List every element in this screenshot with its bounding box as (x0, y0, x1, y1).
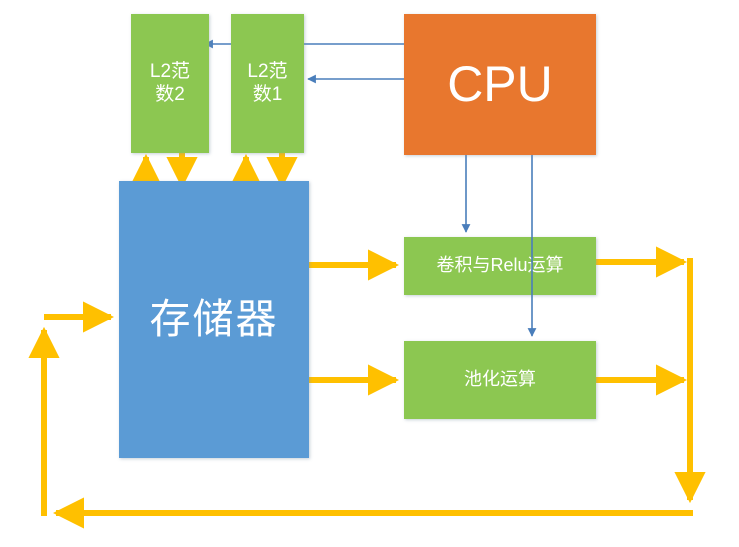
node-conv-relu-label: 卷积与Relu运算 (436, 255, 563, 276)
node-pooling[interactable]: 池化运算 (404, 341, 596, 419)
connector-layer (0, 0, 739, 547)
node-pooling-label: 池化运算 (464, 369, 536, 390)
node-conv-relu[interactable]: 卷积与Relu运算 (404, 237, 596, 295)
node-l2-norm-1-label-line2: 数1 (247, 84, 287, 106)
node-cpu-label: CPU (447, 55, 553, 114)
node-memory[interactable]: 存储器 (119, 181, 309, 458)
node-l2-norm-2[interactable]: L2范 数2 (131, 14, 209, 153)
node-l2-norm-1-label-line1: L2范 (247, 61, 287, 83)
node-l2-norm-2-label-line2: 数2 (150, 84, 190, 106)
node-cpu[interactable]: CPU (404, 14, 596, 155)
node-l2-norm-1[interactable]: L2范 数1 (231, 14, 304, 153)
node-l2-norm-2-label-line1: L2范 (150, 61, 190, 83)
diagram-canvas: L2范 数2 L2范 数1 CPU 存储器 卷积与Relu运算 池化运算 (0, 0, 739, 547)
node-memory-label: 存储器 (150, 295, 279, 343)
